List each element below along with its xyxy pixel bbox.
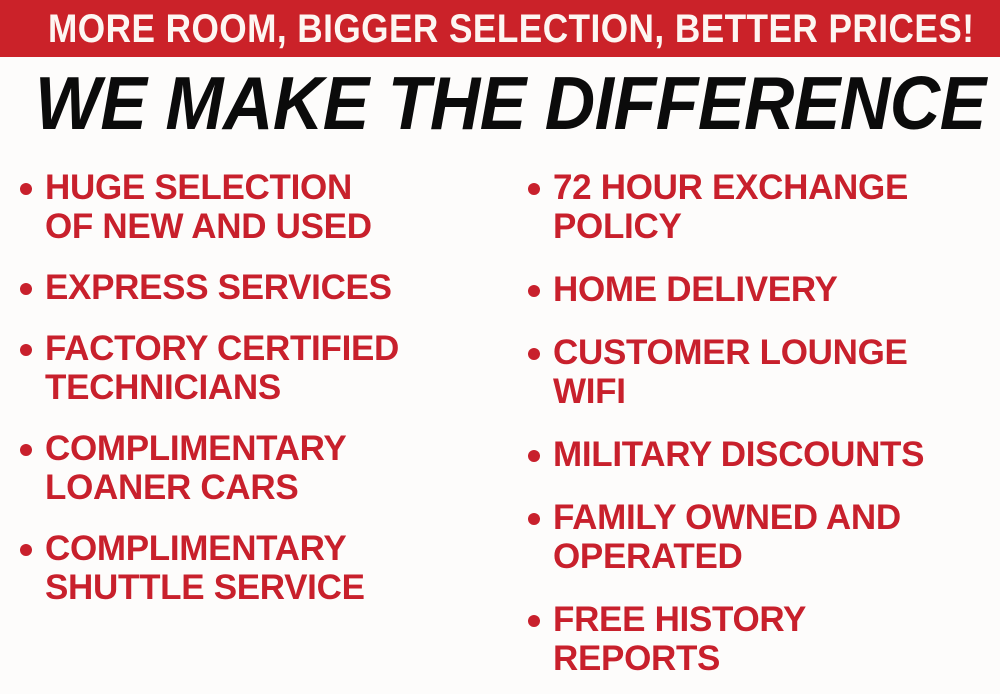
benefits-column-right: 72 HOUR EXCHANGE POLICY HOME DELIVERY CU… bbox=[510, 160, 1000, 694]
list-item: COMPLIMENTARY SHUTTLE SERVICE bbox=[20, 529, 510, 607]
list-item-label: COMPLIMENTARY LOANER CARS bbox=[45, 429, 346, 507]
list-item-label: FREE HISTORY REPORTS bbox=[553, 600, 806, 678]
bullet-dot-icon bbox=[20, 283, 32, 295]
bullet-dot-icon bbox=[528, 513, 540, 525]
bullet-dot-icon bbox=[528, 285, 540, 297]
list-item: COMPLIMENTARY LOANER CARS bbox=[20, 429, 510, 507]
list-item-label: EXPRESS SERVICES bbox=[45, 268, 392, 307]
list-item-label: HOME DELIVERY bbox=[553, 270, 838, 309]
list-item-label: CUSTOMER LOUNGE WIFI bbox=[553, 333, 908, 411]
list-item: CUSTOMER LOUNGE WIFI bbox=[528, 333, 1000, 411]
list-item: MILITARY DISCOUNTS bbox=[528, 435, 1000, 474]
list-item: HOME DELIVERY bbox=[528, 270, 1000, 309]
page-title: WE MAKE THE DIFFERENCE bbox=[35, 66, 965, 141]
bullet-dot-icon bbox=[20, 344, 32, 356]
list-item: FREE HISTORY REPORTS bbox=[528, 600, 1000, 678]
benefits-columns: HUGE SELECTION OF NEW AND USED EXPRESS S… bbox=[0, 160, 1000, 694]
benefits-column-left: HUGE SELECTION OF NEW AND USED EXPRESS S… bbox=[0, 160, 510, 694]
bullet-dot-icon bbox=[20, 544, 32, 556]
top-banner: MORE ROOM, BIGGER SELECTION, BETTER PRIC… bbox=[0, 0, 1000, 57]
bullet-dot-icon bbox=[20, 183, 32, 195]
bullet-dot-icon bbox=[528, 615, 540, 627]
banner-headline-text: MORE ROOM, BIGGER SELECTION, BETTER PRIC… bbox=[48, 9, 974, 49]
list-item-label: FACTORY CERTIFIED TECHNICIANS bbox=[45, 329, 399, 407]
bullet-dot-icon bbox=[528, 183, 540, 195]
bullet-dot-icon bbox=[20, 444, 32, 456]
bullet-dot-icon bbox=[528, 450, 540, 462]
list-item: FACTORY CERTIFIED TECHNICIANS bbox=[20, 329, 510, 407]
list-item-label: FAMILY OWNED AND OPERATED bbox=[553, 498, 901, 576]
list-item-label: COMPLIMENTARY SHUTTLE SERVICE bbox=[45, 529, 365, 607]
bullet-dot-icon bbox=[528, 348, 540, 360]
promotional-poster: MORE ROOM, BIGGER SELECTION, BETTER PRIC… bbox=[0, 0, 1000, 694]
list-item: HUGE SELECTION OF NEW AND USED bbox=[20, 168, 510, 246]
list-item: FAMILY OWNED AND OPERATED bbox=[528, 498, 1000, 576]
list-item-label: MILITARY DISCOUNTS bbox=[553, 435, 924, 474]
list-item: EXPRESS SERVICES bbox=[20, 268, 510, 307]
list-item-label: HUGE SELECTION OF NEW AND USED bbox=[45, 168, 372, 246]
list-item-label: 72 HOUR EXCHANGE POLICY bbox=[553, 168, 908, 246]
list-item: 72 HOUR EXCHANGE POLICY bbox=[528, 168, 1000, 246]
